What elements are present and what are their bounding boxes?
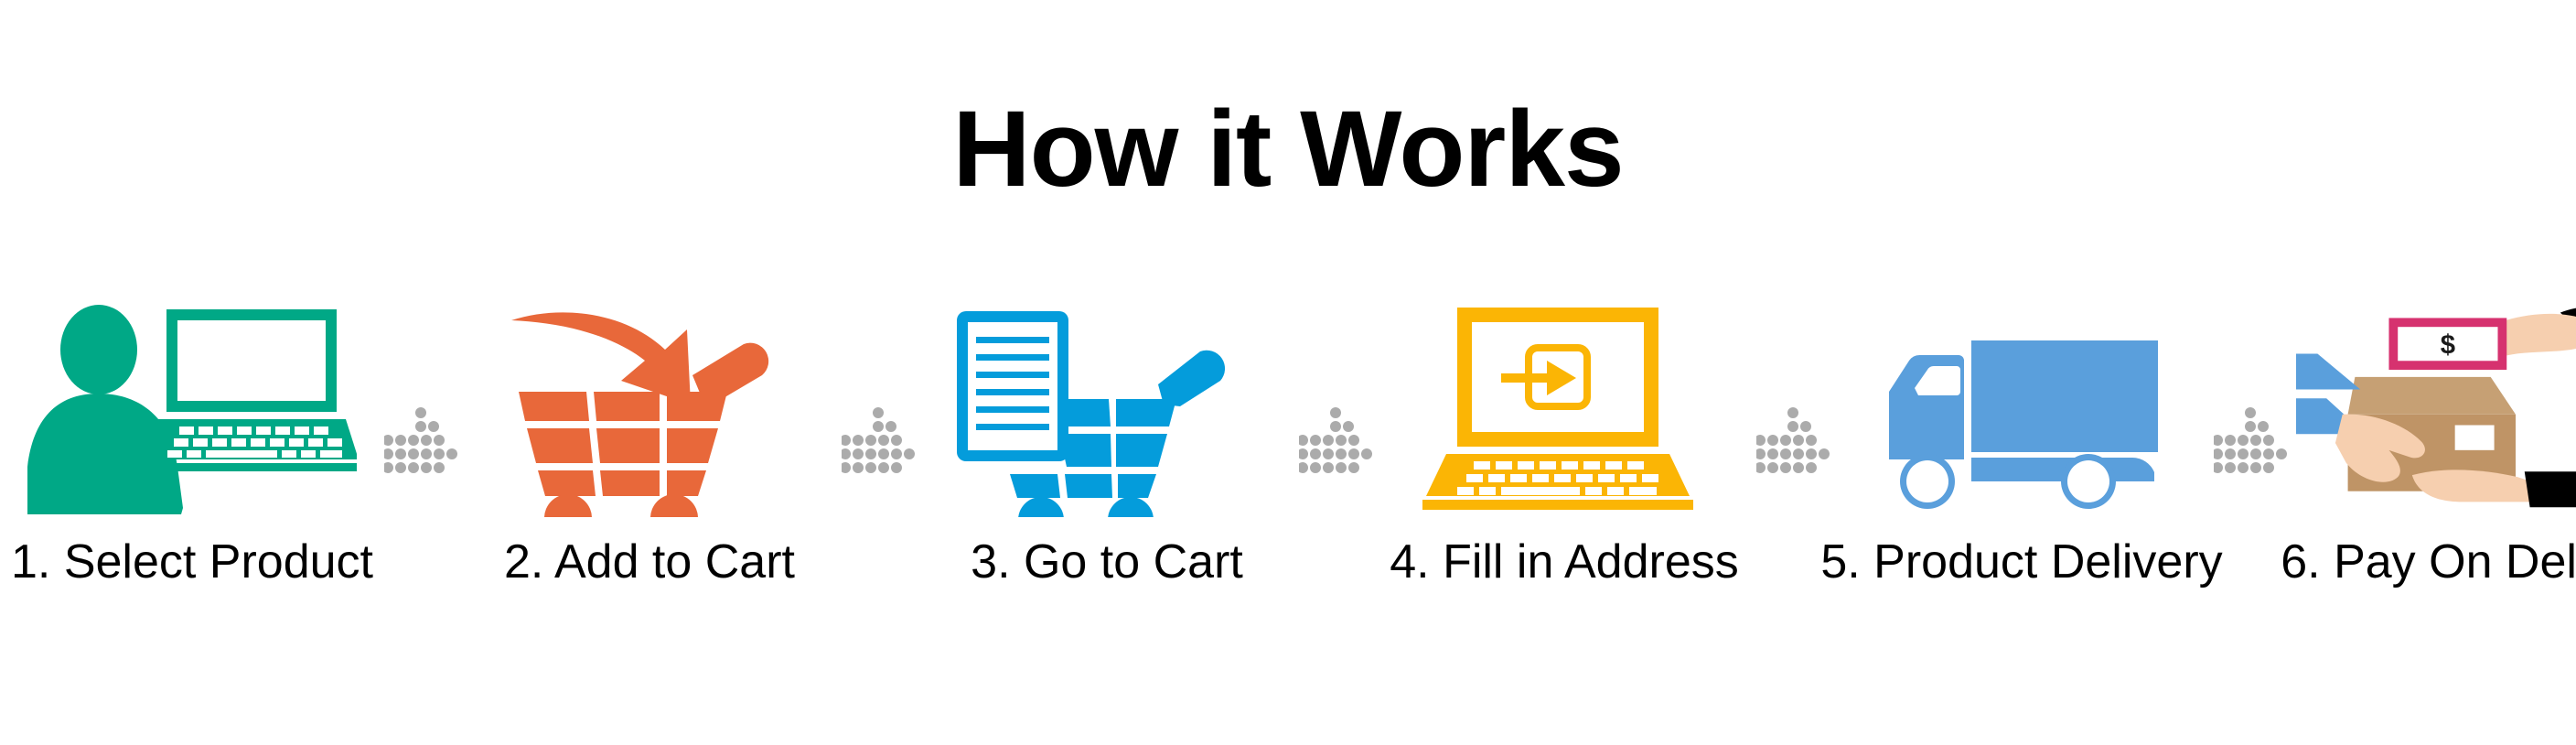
separator-4 [1756,302,1830,686]
separator-5 [2214,302,2287,686]
page-title: How it Works [0,95,2576,203]
cart-with-arrow-icon [467,302,832,517]
dotted-arrow-right-icon [384,405,457,478]
step-2-add-to-cart[interactable]: 2. Add to Cart [457,302,842,686]
step-5-label: 5. Product Delivery [1820,537,2222,588]
step-4-fill-in-address[interactable]: 4. Fill in Address [1372,302,1756,686]
dotted-arrow-right-icon [1299,405,1372,478]
delivery-truck-icon [1839,302,2205,517]
step-3-go-to-cart[interactable]: 3. Go to Cart [915,302,1299,686]
step-6-label: 6. Pay On Delivery [2281,537,2576,588]
banknote-dollar-symbol: $ [2441,330,2455,360]
step-4-label: 4. Fill in Address [1390,537,1739,588]
hands-exchange-box-cash-icon: $ [2296,302,2576,517]
dotted-arrow-right-icon [1756,405,1830,478]
separator-2 [842,302,915,686]
step-6-pay-on-delivery[interactable]: $ [2287,302,2576,686]
step-1-label: 1. Select Product [11,537,373,588]
dotted-arrow-right-icon [842,405,915,478]
infographic-page: How it Works [0,0,2576,745]
document-cart-icon [924,302,1290,517]
steps-strip: 1. Select Product [0,302,2576,686]
separator-1 [384,302,457,686]
person-at-laptop-icon [9,302,375,517]
separator-3 [1299,302,1372,686]
laptop-login-form-icon [1381,302,1747,517]
step-1-select-product[interactable]: 1. Select Product [0,302,384,686]
step-3-label: 3. Go to Cart [971,537,1243,588]
dotted-arrow-right-icon [2214,405,2287,478]
step-2-label: 2. Add to Cart [504,537,795,588]
step-5-product-delivery[interactable]: 5. Product Delivery [1830,302,2214,686]
